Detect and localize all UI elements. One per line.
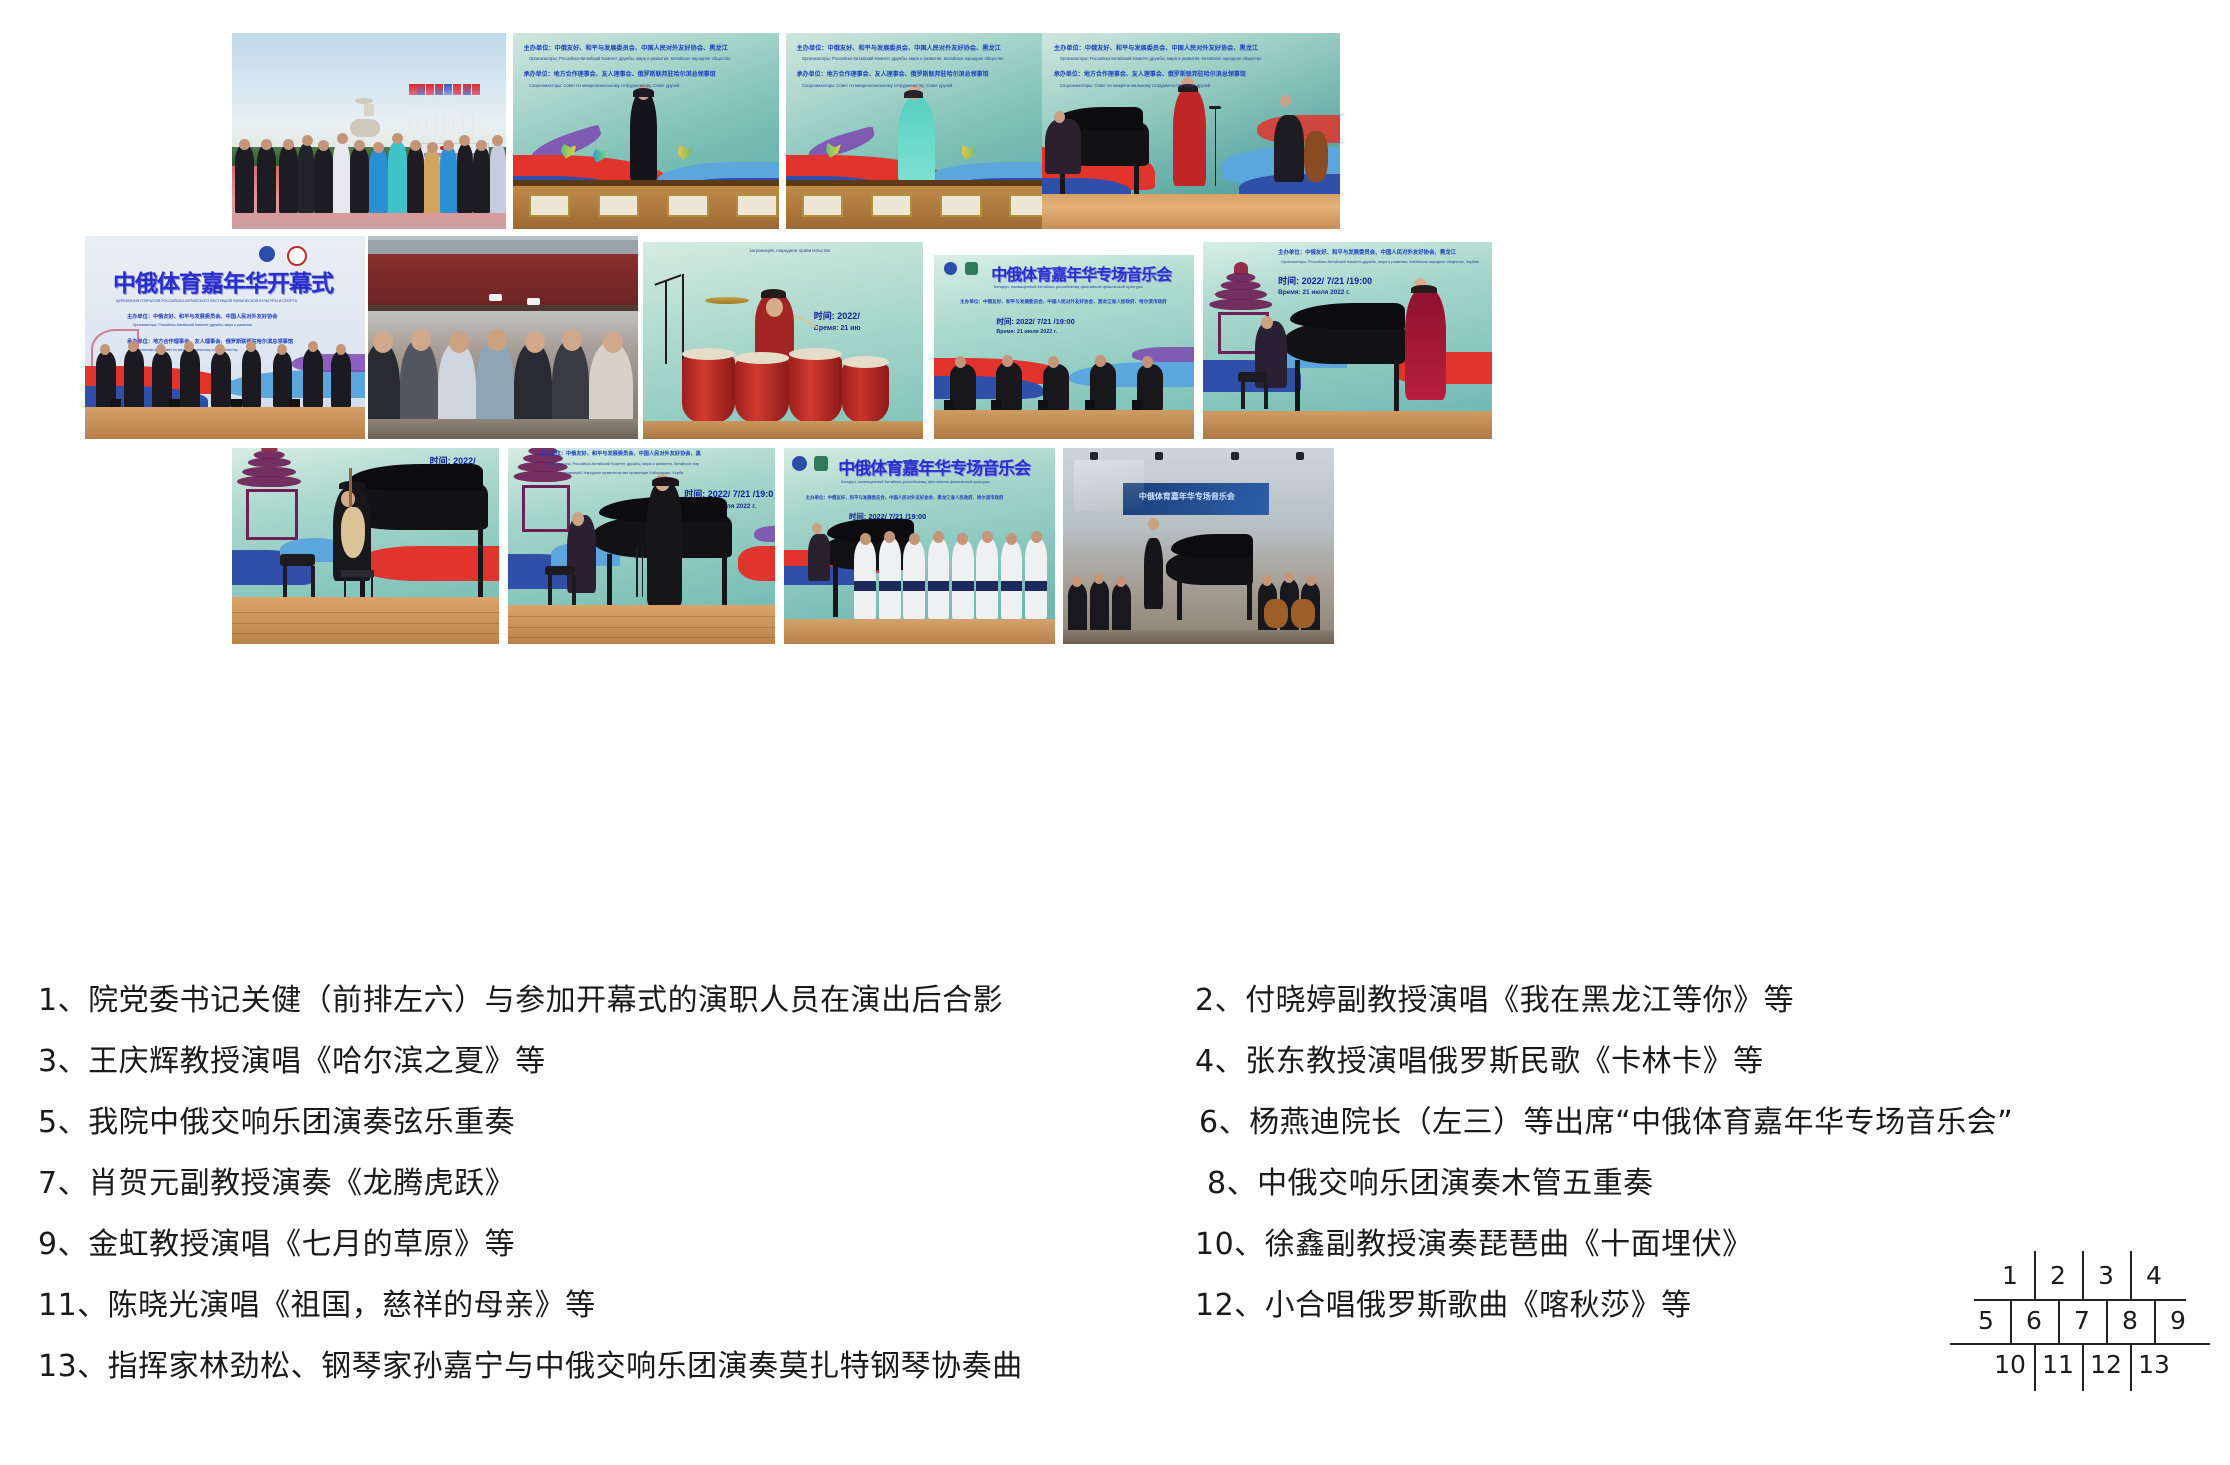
index-divider-v9 — [2082, 1343, 2084, 1391]
photo-10-pipa-soloist: 时间: 2022/ Время: 21 июля — [232, 448, 499, 644]
banner-title: 主办单位：中俄友好、和平与发展委员会、中国人民对外友好协会、黑龙江 — [1278, 250, 1456, 256]
index-cell-11: 11 — [2034, 1344, 2082, 1386]
banner-subtitle: Организаторы: Российско-Китайский Комите… — [529, 56, 731, 61]
time-label-line2: Время: 21 ию — [814, 325, 861, 332]
time-label-line1: 时间: 2022/ — [814, 309, 860, 322]
index-cell-12: 12 — [2082, 1344, 2130, 1386]
photo-3-singer-green-gown: 主办单位：中俄友好、和平与发展委员会、中国人民对外友好协会、黑龙江 Органи… — [786, 33, 1052, 229]
caption-item-7: 7、肖贺元副教授演奏《龙腾虎跃》 — [38, 1158, 515, 1202]
banner-title: 中俄体育嘉年华专场音乐会 — [991, 261, 1171, 285]
index-cell-10: 10 — [1986, 1344, 2034, 1386]
banner-subtitle: Организаторы: Российско-Китайский Комите… — [1060, 56, 1262, 61]
photo-7-percussionist: заграницей, Народное правительство 时间: 2… — [643, 242, 923, 439]
time-label-line1: 时间: 2022/ 7/21 /19:00 — [1278, 274, 1372, 287]
banner-subtitle: Организаторы: Российско-Китайский Комите… — [802, 56, 1004, 61]
index-divider-v2 — [2082, 1251, 2084, 1299]
index-cell-2: 2 — [2034, 1255, 2082, 1297]
photo-4-tenor-red-jacket: 主办单位：中俄友好、和平与发展委员会、中国人民对外友好协会、黑龙江 Органи… — [1042, 33, 1340, 229]
banner-title: 主办单位：中俄友好、和平与发展委员会、中国人民对外友好协会、黑龙江 — [1054, 45, 1258, 52]
banner-subtitle-2: Соорганизаторы: Совет по межрегиональном… — [529, 83, 679, 88]
caption-item-11: 11、陈晓光演唱《祖国，慈祥的母亲》等 — [38, 1280, 596, 1324]
banner-title: 中俄体育嘉年华开幕式 — [113, 264, 333, 298]
banner-subtitle: Организаторы: Российско-Китайский Комите… — [545, 462, 699, 467]
logo-emblem-blue — [792, 456, 807, 471]
time-label-line2: Время: 21 июля 2022 г. — [996, 329, 1057, 335]
banner-title: 主办单位：中俄友好、和平与发展委员会、中国人民对外友好协会、黑龙江 — [797, 45, 1001, 52]
index-cell-13: 13 — [2130, 1344, 2178, 1386]
index-cell-1: 1 — [1986, 1255, 2034, 1297]
photo-12-small-chorus: 中俄体育嘉年华专场音乐会 Концерт, посвященный Китайс… — [784, 448, 1055, 644]
banner-title-2: 主办单位：中俄友好、和平与发展委员会、中国人民对外友好协会、黑龙江省人民政府、哈… — [806, 495, 1004, 501]
index-divider-v4 — [2010, 1299, 2012, 1343]
photo-5-string-ensemble: 中俄体育嘉年华开幕式 ЦЕРЕМОНИЯ ОТКРЫТИЯ РОССИЙСКО-… — [85, 236, 365, 439]
index-divider-v8 — [2034, 1343, 2036, 1391]
index-cell-4: 4 — [2130, 1255, 2178, 1297]
logo-emblem-blue — [259, 246, 275, 262]
index-cell-6: 6 — [2010, 1300, 2058, 1342]
banner-title: 中俄体育嘉年华专场音乐会 — [1139, 491, 1235, 502]
photo-13-orchestra-with-conductor: 中俄体育嘉年华专场音乐会 — [1063, 448, 1334, 644]
banner-title-2: 主办单位：中俄友好、和平与发展委员会、中国人民对外友好协会、黑龙江省人民政府、哈… — [960, 299, 1167, 305]
photo-9-soprano-red-gown: 主办单位：中俄友好、和平与发展委员会、中国人民对外友好协会、黑龙江 Органи… — [1203, 242, 1492, 439]
banner-title-2: 承办单位：地方合作理事会、友人理事会、俄罗斯联邦驻哈尔滨总领事馆 — [524, 72, 716, 79]
banner-subtitle: Концерт, посвященный Китайско-российском… — [841, 479, 990, 484]
index-cell-5: 5 — [1962, 1300, 2010, 1342]
banner-subtitle: Концерт, посвященный Китайско-российском… — [994, 284, 1143, 289]
photo-2-solo-singer: 主办单位：中俄友好、和平与发展委员会、中国人民对外友好协会、黑龙江 Органи… — [513, 33, 779, 229]
index-divider-v1 — [2034, 1251, 2036, 1299]
caption-item-6: 6、杨燕迪院长（左三）等出席“中俄体育嘉年华专场音乐会” — [1199, 1097, 2013, 1141]
banner-title-2: 承办单位：地方合作理事会、友人理事会、俄罗斯联邦驻哈尔滨总领事馆 — [1054, 72, 1246, 79]
index-divider-v10 — [2130, 1343, 2132, 1391]
logo-emblem-conservatory — [965, 262, 978, 275]
index-cell-9: 9 — [2154, 1300, 2202, 1342]
index-divider-v7 — [2154, 1299, 2156, 1343]
photo-1-group-photo — [232, 33, 506, 229]
banner-subtitle: ЦЕРЕМОНИЯ ОТКРЫТИЯ РОССИЙСКО-КИТАЙСКОГО … — [116, 299, 297, 303]
banner-title: 中俄体育嘉年华专场音乐会 — [838, 454, 1030, 479]
caption-item-13: 13、指挥家林劲松、钢琴家孙嘉宁与中俄交响乐团演奏莫扎特钢琴协奏曲 — [38, 1341, 1023, 1385]
index-cell-3: 3 — [2082, 1255, 2130, 1297]
caption-item-9: 9、金虹教授演唱《七月的草原》等 — [38, 1219, 515, 1263]
caption-item-12: 12、小合唱俄罗斯歌曲《喀秋莎》等 — [1195, 1280, 1692, 1324]
caption-item-8: 8、中俄交响乐团演奏木管五重奏 — [1207, 1158, 1654, 1202]
banner-title-2: 主办单位：中俄友好、和平与发展委员会、中国人民对外友好协会 — [127, 313, 277, 320]
banner-subtitle-2: Организаторы: Российско-Китайский Комите… — [133, 323, 253, 327]
photo-8-woodwind-quintet: 中俄体育嘉年华专场音乐会 Концерт, посвященный Китайс… — [934, 255, 1194, 439]
banner-subtitle: заграницей, Народное правительство — [749, 248, 830, 254]
caption-item-10: 10、徐鑫副教授演奏琵琶曲《十面埋伏》 — [1195, 1219, 1753, 1263]
index-cell-7: 7 — [2058, 1300, 2106, 1342]
banner-subtitle-2: Соорганизаторы: Совет по межрегиональном… — [1060, 83, 1210, 88]
caption-item-3: 3、王庆辉教授演唱《哈尔滨之夏》等 — [38, 1036, 546, 1080]
banner-subtitle: Организаторы: Российско-Китайский Комите… — [1281, 260, 1479, 265]
logo-emblem-conservatory — [814, 456, 828, 471]
index-key-row-2: 5 6 7 8 9 — [1962, 1300, 2202, 1342]
photo-index-key-diagram: 1 2 3 4 5 6 7 8 9 10 11 12 13 — [1962, 1255, 2212, 1385]
photo-11-baritone-with-pianist: 主办单位：中俄友好、和平与发展委员会、中国人民对外友好协会、黑 Организа… — [508, 448, 775, 644]
index-divider-v3 — [2130, 1251, 2132, 1299]
caption-item-2: 2、付晓婷副教授演唱《我在黑龙江等你》等 — [1195, 975, 1794, 1019]
caption-item-4: 4、张东教授演唱俄罗斯民歌《卡林卡》等 — [1195, 1036, 1764, 1080]
photo-6-seated-audience — [368, 236, 638, 439]
banner-title: 主办单位：中俄友好、和平与发展委员会、中国人民对外友好协会、黑 — [540, 452, 701, 458]
banner-title: 主办单位：中俄友好、和平与发展委员会、中国人民对外友好协会、黑龙江 — [524, 45, 728, 52]
time-label-line2: Время: 21 июля 2022 г. — [1278, 289, 1350, 296]
index-divider-v5 — [2058, 1299, 2060, 1343]
index-divider-v6 — [2106, 1299, 2108, 1343]
caption-item-1: 1、院党委书记关健（前排左六）与参加开幕式的演职人员在演出后合影 — [38, 975, 1003, 1019]
banner-title-2: 承办单位：地方合作理事会、友人理事会、俄罗斯联邦驻哈尔滨总领事馆 — [797, 72, 989, 79]
banner-subtitle-2: Соорганизаторы: Совет по межрегиональном… — [802, 83, 952, 88]
time-label-line1: 时间: 2022/ 7/21 /19:00 — [996, 316, 1074, 327]
index-cell-8: 8 — [2106, 1300, 2154, 1342]
caption-item-5: 5、我院中俄交响乐团演奏弦乐重奏 — [38, 1097, 515, 1141]
logo-emblem-red — [287, 246, 307, 266]
